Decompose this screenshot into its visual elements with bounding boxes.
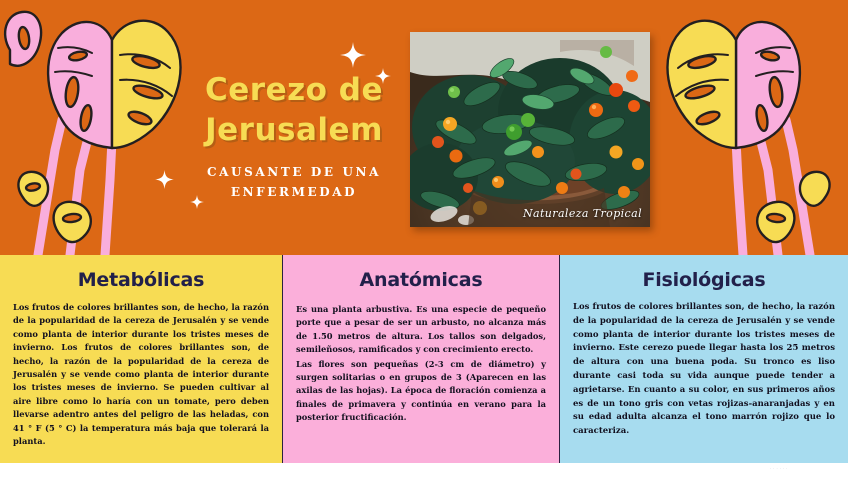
sparkle-star-subtitle-icon [155, 170, 174, 189]
panel-heading-metabolicas: Metabólicas [13, 267, 269, 293]
poster-subtitle-line-1: CAUSANTE DE UNA [178, 162, 410, 182]
panel-paragraph: Es una planta arbustiva. Es una especie … [296, 303, 546, 357]
infographic-poster: Cerezo de Jerusalem CAUSANTE DE UNA ENFE… [0, 0, 848, 477]
bottom-note: · · · · · · [770, 467, 788, 471]
poster-subtitle-line-2: ENFERMEDAD [178, 182, 410, 202]
plant-photo: Naturaleza Tropical [410, 32, 650, 227]
panel-metabolicas: Metabólicas Los frutos de colores brilla… [0, 255, 283, 463]
photo-watermark: Naturaleza Tropical [523, 207, 642, 220]
bottom-strip: · · · · · · [0, 463, 848, 477]
panel-body-anatomicas: Es una planta arbustiva. Es una especie … [296, 303, 546, 425]
panel-body-metabolicas: Los frutos de colores brillantes son, de… [13, 301, 269, 448]
sparkle-star-subtitle-small-icon [190, 195, 204, 209]
header-banner: Cerezo de Jerusalem CAUSANTE DE UNA ENFE… [0, 0, 848, 255]
right-leaves-decoration [638, 0, 848, 255]
panel-paragraph: Los frutos de colores brillantes son, de… [573, 301, 835, 439]
poster-title-line-2: Jerusalem [178, 110, 410, 150]
panel-body-fisiologicas: Los frutos de colores brillantes son, de… [573, 301, 835, 439]
panel-paragraph: Los frutos de colores brillantes son, de… [13, 301, 269, 448]
panel-anatomicas: Anatómicas Es una planta arbustiva. Es u… [283, 255, 560, 463]
sparkle-star-icon [340, 42, 366, 68]
content-panels: Metabólicas Los frutos de colores brilla… [0, 255, 848, 463]
sparkle-star-small-icon [375, 68, 391, 84]
panel-heading-fisiologicas: Fisiológicas [573, 267, 835, 293]
poster-subtitle: CAUSANTE DE UNA ENFERMEDAD [178, 162, 410, 202]
panel-fisiologicas: Fisiológicas Los frutos de colores brill… [560, 255, 848, 463]
panel-paragraph: Las flores son pequeñas (2-3 cm de diáme… [296, 358, 546, 425]
title-block: Cerezo de Jerusalem CAUSANTE DE UNA ENFE… [178, 70, 410, 202]
panel-heading-anatomicas: Anatómicas [296, 267, 546, 293]
